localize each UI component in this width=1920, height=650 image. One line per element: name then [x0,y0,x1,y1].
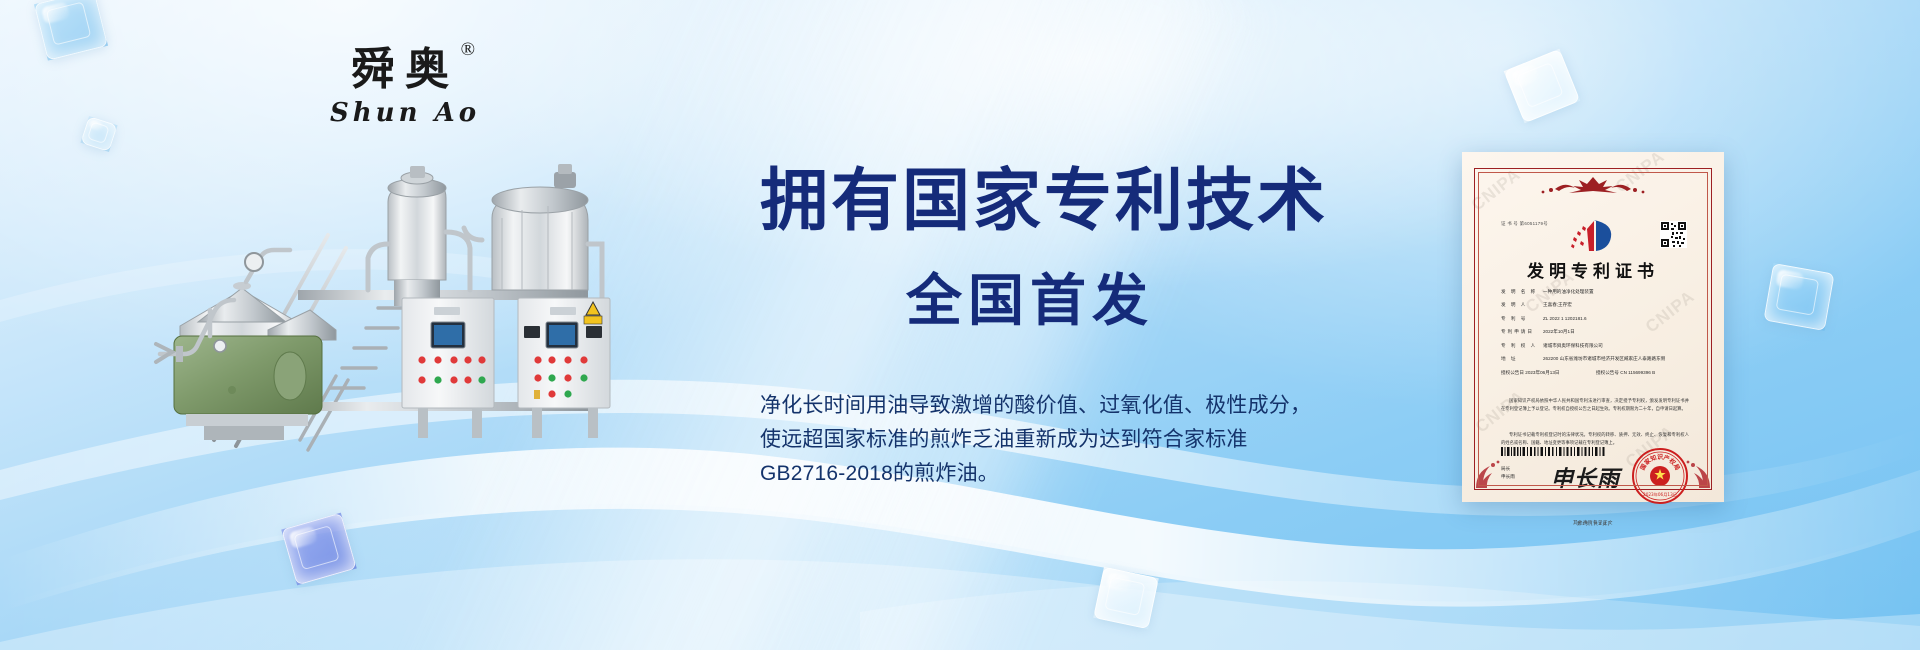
barcode-icon [1501,447,1609,456]
ice-cube-left-upper [80,116,117,152]
corner-ornament-icon [1678,456,1712,490]
ice-cube-bottom-center [1093,567,1159,630]
grant-date-value: 2023年06月13日 [1525,370,1559,375]
grant-number: 授权公告号 CN 115699396 B [1596,370,1691,376]
field-value: 262200 山东省潍坊市诸城市经济开发区臧家庄人泰路路东侧 [1543,356,1691,362]
brand-logo: 舜奥 ® Shun Ao [330,48,480,128]
body-paragraph: 净化长时间用油导致激增的酸价值、过氧化值、极性成分，使远超国家标准的煎炸乏油重新… [760,389,1330,491]
svg-text:产: 产 [1662,453,1670,463]
brand-name-cn-text: 舜奥 [351,44,459,95]
svg-text:局: 局 [1671,462,1681,472]
svg-text:2023年06月13日: 2023年06月13日 [1643,491,1677,498]
field-label: 地 址 [1501,356,1543,362]
certificate-number: 证 书 号 第6051179号 [1501,221,1548,227]
field-label: 专 利 权 人 [1501,343,1543,349]
director-label: 局长申长雨 [1501,465,1515,481]
svg-text:国: 国 [1638,463,1648,472]
field-value: 2022年10月1日 [1543,329,1691,335]
certificate-number-label: 证 书 号 [1501,221,1518,226]
official-seal-icon: 国 家 知 识 产 权 局 2023年06月13日 [1631,447,1689,505]
svg-text:知: 知 [1649,453,1657,463]
brand-name-en: Shun Ao [330,98,480,128]
certificate-field-row: 专 利 权 人 诸城市舜奥环保科技有限公司 [1501,343,1691,349]
field-value: ZL 2022 1 1202181.6 [1543,316,1691,322]
ice-cube-top-left [34,0,108,61]
grant-number-label: 授权公告号 [1596,370,1619,375]
brand-name-cn: 舜奥 ® [351,48,459,92]
hero-copy: 拥有国家专利技术 全国首发 净化长时间用油导致激增的酸价值、过氧化值、极性成分，… [760,165,1340,491]
svg-text:权: 权 [1667,456,1678,467]
field-label: 专 利 号 [1501,316,1543,322]
certificate-grant-row: 授权公告日 2023年06月13日 授权公告号 CN 115699396 B [1501,370,1691,376]
grant-date-label: 授权公告日 [1501,370,1524,375]
certificate-border: 证 书 号 第6051179号 [1474,168,1712,490]
certificate-legal-paragraph-2: 专利证书记载专利权登记时的法律状况。专利权的转移、质押、无效、终止、恢复和专利权… [1501,431,1689,446]
certificate-field-row: 发 明 人 王喜春;王存宏 [1501,302,1691,308]
grant-number-value: CN 115699396 B [1620,370,1655,375]
cnipa-logo-icon [1567,217,1619,253]
patent-certificate: CNIPA CNIPA CNIPA CNIPA CNIPA CNIPA 证 书 … [1462,152,1724,502]
field-value: 一种用的油净化处理装置 [1543,289,1691,295]
ice-cube-right [1763,263,1834,331]
headline-primary: 拥有国家专利技术 [760,165,1340,238]
certificate-title: 发明专利证书 [1475,257,1711,282]
certificate-footer-note: 其他事项参见正文 [1462,520,1724,526]
registered-trademark-icon: ® [461,40,485,59]
certificate-field-row: 专利申请日 2022年10月1日 [1501,329,1691,335]
certificate-fields: 发 明 名 称 一种用的油净化处理装置 发 明 人 王喜春;王存宏 专 利 号 … [1501,289,1691,376]
certificate-field-row: 专 利 号 ZL 2022 1 1202181.6 [1501,316,1691,322]
svg-text:家: 家 [1643,457,1653,467]
qr-code-icon [1660,221,1687,248]
certificate-number-value: 第6051179号 [1520,221,1548,226]
ice-cube-top-right [1504,49,1581,123]
headline-secondary: 全国首发 [760,256,1340,337]
corner-ornament-icon [1474,456,1508,490]
field-value: 诸城市舜奥环保科技有限公司 [1543,343,1691,349]
machine-illustration [150,140,620,470]
field-label: 发 明 名 称 [1501,289,1543,295]
ice-cube-bottom-left [281,513,357,586]
svg-text:识: 识 [1657,453,1663,461]
director-signature: 申长雨 [1551,461,1620,493]
certificate-field-row: 地 址 262200 山东省潍坊市诸城市经济开发区臧家庄人泰路路东侧 [1501,356,1691,362]
hero-banner: 舜奥 ® Shun Ao [0,0,1920,650]
certificate-legal-paragraph-1: 国家知识产权局依照中华人民共和国专利法进行审查，决定授予专利权，颁发发明专利证书… [1501,397,1689,412]
field-label: 发 明 人 [1501,302,1543,308]
ornament-flourish-icon [1533,175,1653,197]
grant-date: 授权公告日 2023年06月13日 [1501,370,1596,376]
certificate-field-row: 发 明 名 称 一种用的油净化处理装置 [1501,289,1691,295]
field-label: 专利申请日 [1501,329,1543,335]
field-value: 王喜春;王存宏 [1543,302,1691,308]
